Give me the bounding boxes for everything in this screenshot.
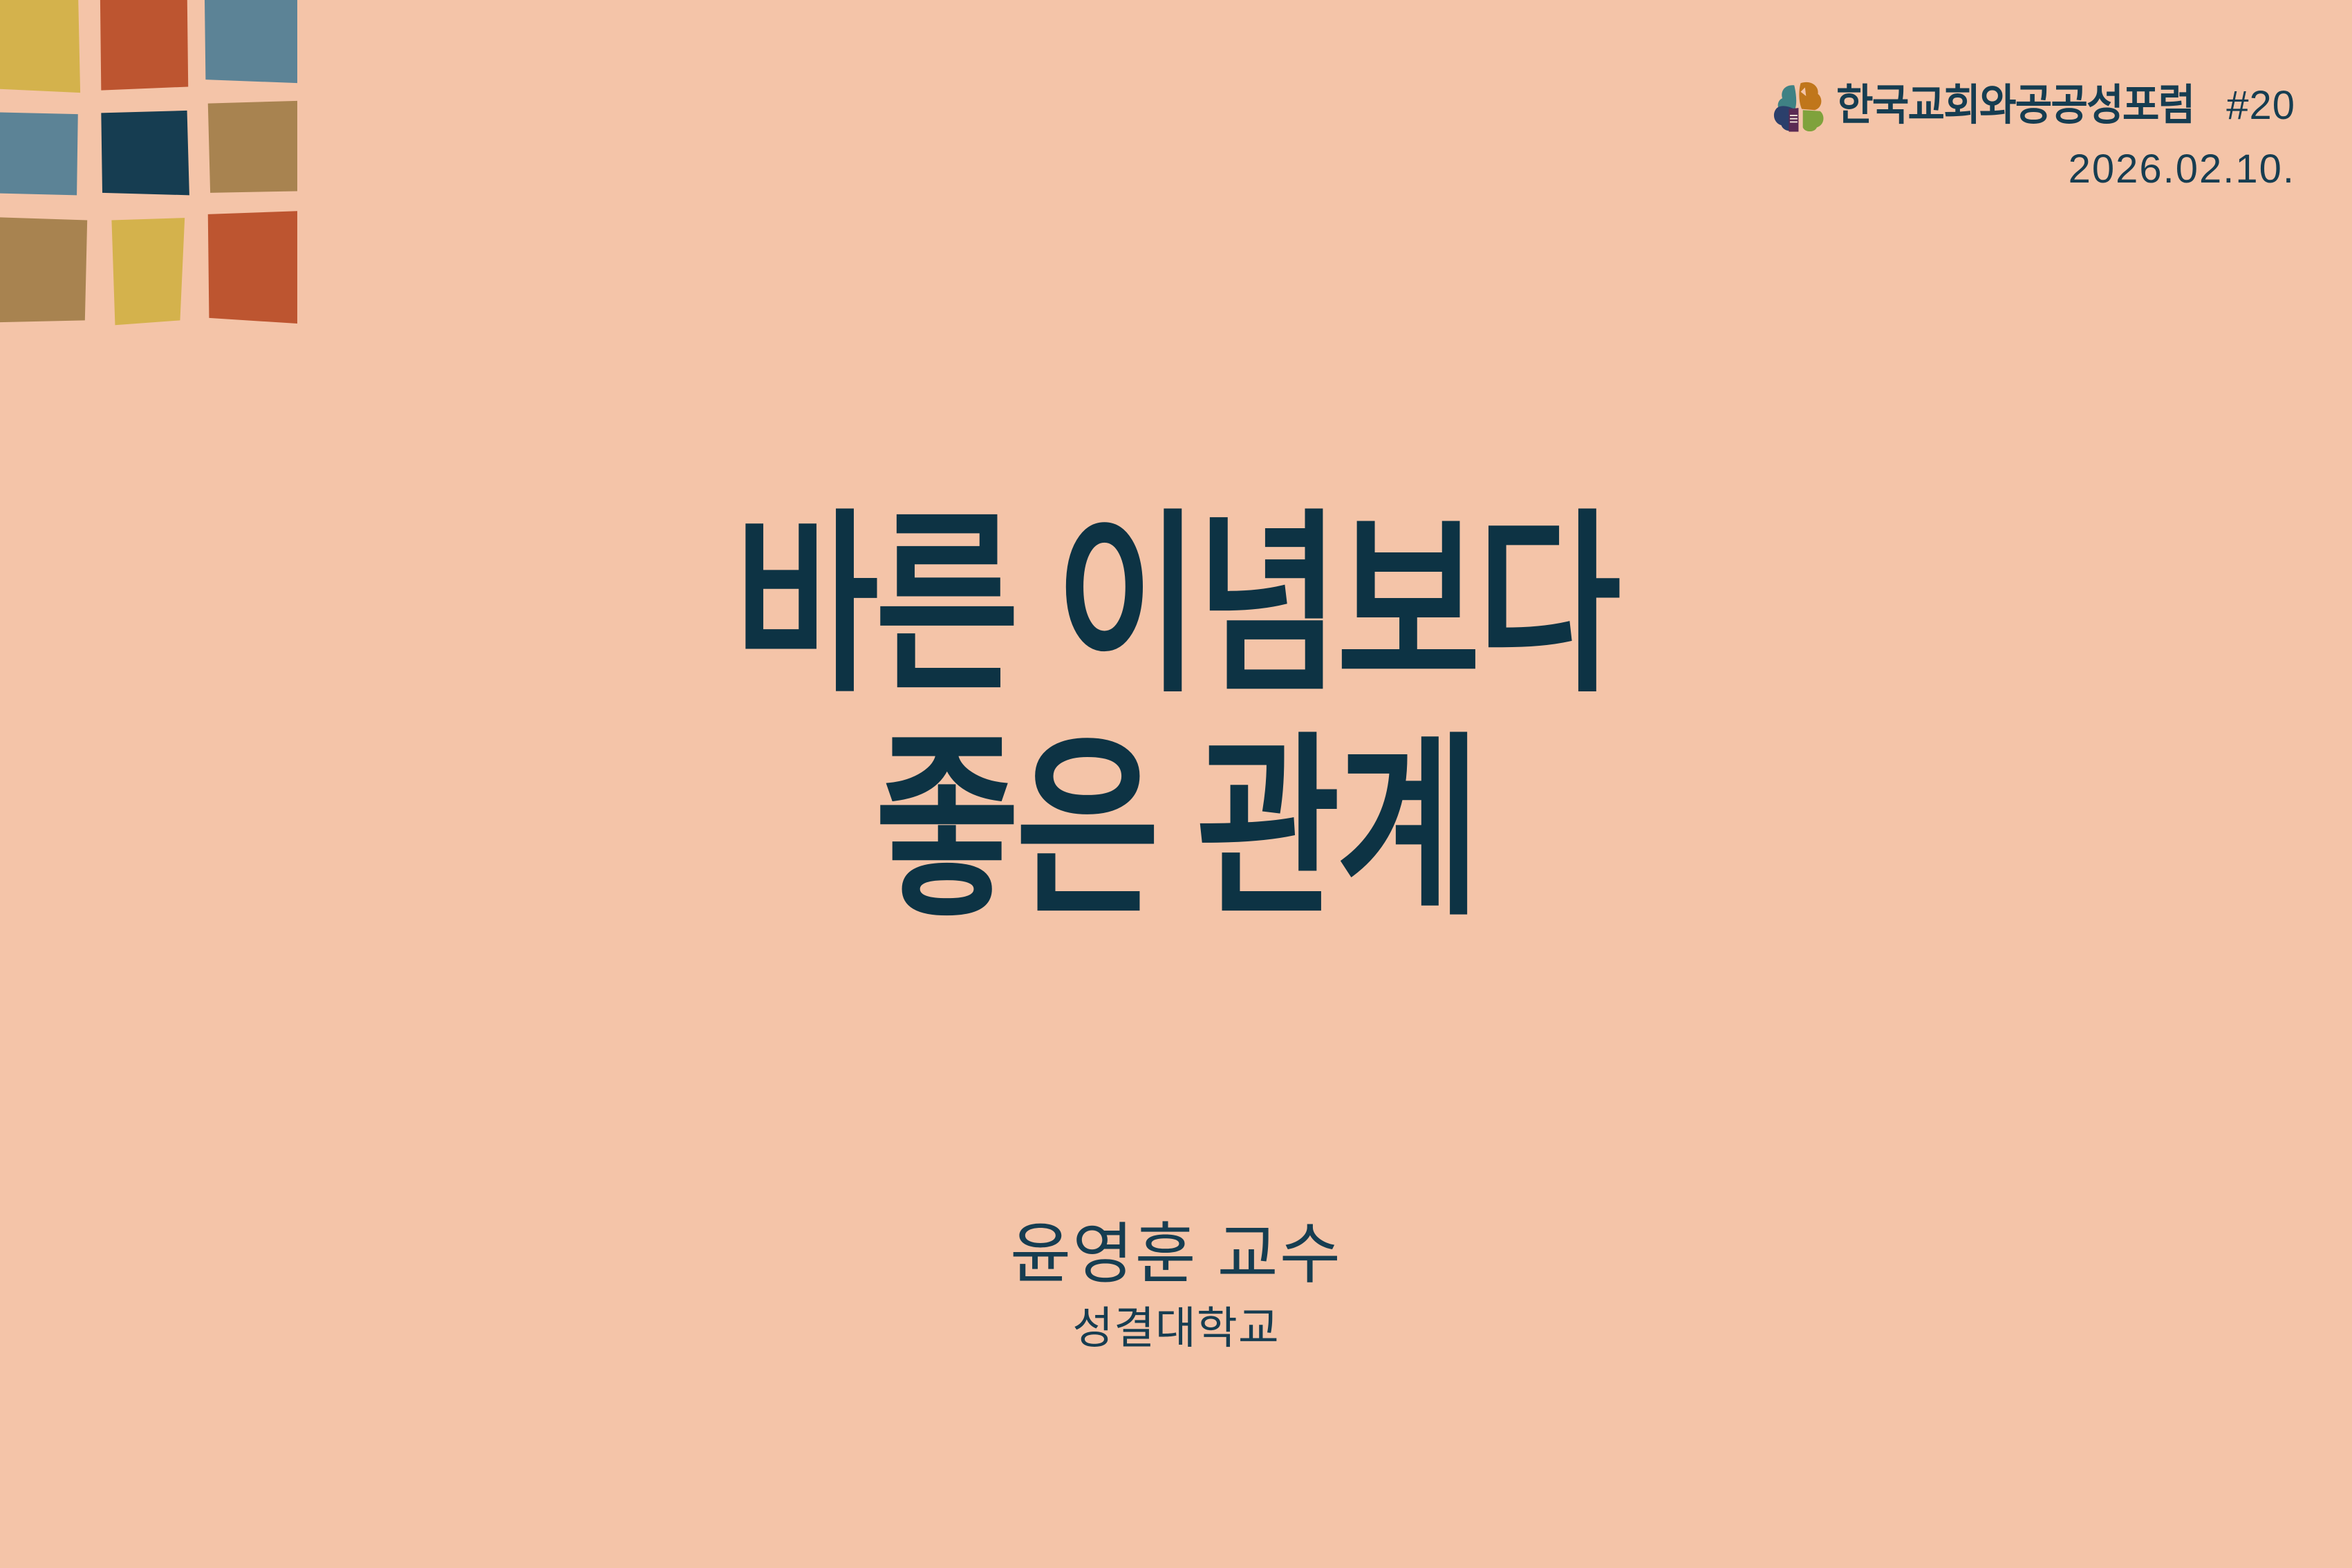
forum-edition-number: #20 bbox=[2226, 86, 2295, 126]
decorative-tile bbox=[100, 0, 189, 91]
decorative-tile bbox=[208, 209, 297, 326]
decorative-tile bbox=[205, 0, 297, 84]
slide-header: 한국교회와공공성포럼 #20 2026.02.10. bbox=[1773, 77, 2295, 189]
speaker-name: 윤영훈 교수 bbox=[0, 1218, 2352, 1291]
decorative-tile bbox=[111, 218, 185, 325]
decorative-tile-grid bbox=[0, 0, 297, 326]
title-line-2: 좋은 관계 bbox=[118, 704, 2234, 954]
forum-title-line: 한국교회와공공성포럼 #20 bbox=[1773, 77, 2295, 134]
decorative-tile bbox=[208, 100, 297, 192]
decorative-tile bbox=[101, 111, 189, 195]
decorative-tile bbox=[0, 0, 80, 93]
forum-name: 한국교회와공공성포럼 bbox=[1836, 84, 2194, 127]
speaker-affiliation: 성결대학교 bbox=[0, 1304, 2352, 1352]
decorative-tile bbox=[0, 112, 78, 196]
event-date: 2026.02.10. bbox=[1773, 149, 2295, 189]
slide-title-block: 바른 이념보다 좋은 관계 bbox=[0, 495, 2352, 941]
decorative-tile bbox=[0, 216, 87, 322]
speaker-block: 윤영훈 교수 성결대학교 bbox=[0, 1218, 2352, 1352]
forum-cross-logo-icon bbox=[1773, 77, 1827, 134]
title-line-1: 바른 이념보다 bbox=[118, 482, 2234, 731]
